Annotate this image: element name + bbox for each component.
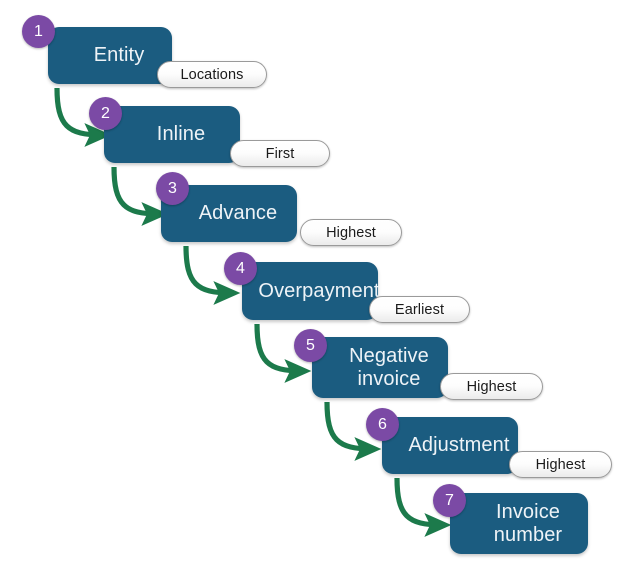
step-7-number: 7 <box>445 492 454 510</box>
arrow-step-2-to-step-3 <box>114 167 159 214</box>
step-7-number-badge: 7 <box>433 484 466 517</box>
step-1-criteria-label: Locations <box>181 67 244 83</box>
step-5-box[interactable]: Negative invoice <box>312 337 448 398</box>
step-7-box[interactable]: Invoice number <box>450 493 588 554</box>
step-4-label: Overpayment <box>258 280 379 302</box>
step-6-label: Adjustment <box>408 434 509 456</box>
step-2-criteria-pill[interactable]: First <box>230 140 330 167</box>
step-4-number: 4 <box>236 260 245 278</box>
step-3-criteria-pill[interactable]: Highest <box>300 219 402 246</box>
step-3-number: 3 <box>168 180 177 198</box>
step-5-label: Negative invoice <box>349 345 429 390</box>
step-2-number-badge: 2 <box>89 97 122 130</box>
step-2-number: 2 <box>101 105 110 123</box>
step-4-criteria-label: Earliest <box>395 302 444 318</box>
step-2-criteria-label: First <box>266 146 295 162</box>
step-6-criteria-pill[interactable]: Highest <box>509 451 612 478</box>
step-7-label: Invoice number <box>494 501 562 546</box>
step-2-box[interactable]: Inline <box>104 106 240 163</box>
step-5-criteria-label: Highest <box>467 379 517 395</box>
step-1-number: 1 <box>34 23 43 41</box>
step-1-label: Entity <box>94 44 145 66</box>
step-1-box[interactable]: Entity <box>48 27 172 84</box>
step-4-box[interactable]: Overpayment <box>242 262 378 320</box>
step-sequence-diagram: Entity 1 Locations Inline 2 First Advanc… <box>0 0 628 568</box>
step-6-criteria-label: Highest <box>536 457 586 473</box>
step-1-number-badge: 1 <box>22 15 55 48</box>
step-5-criteria-pill[interactable]: Highest <box>440 373 543 400</box>
step-4-criteria-pill[interactable]: Earliest <box>369 296 470 323</box>
step-6-number-badge: 6 <box>366 408 399 441</box>
step-3-criteria-label: Highest <box>326 225 376 241</box>
step-3-number-badge: 3 <box>156 172 189 205</box>
step-5-number-badge: 5 <box>294 329 327 362</box>
step-2-label: Inline <box>157 123 205 145</box>
step-1-criteria-pill[interactable]: Locations <box>157 61 267 88</box>
step-6-number: 6 <box>378 416 387 434</box>
step-3-label: Advance <box>199 202 278 224</box>
step-5-number: 5 <box>306 337 315 355</box>
step-6-box[interactable]: Adjustment <box>382 417 518 474</box>
step-4-number-badge: 4 <box>224 252 257 285</box>
